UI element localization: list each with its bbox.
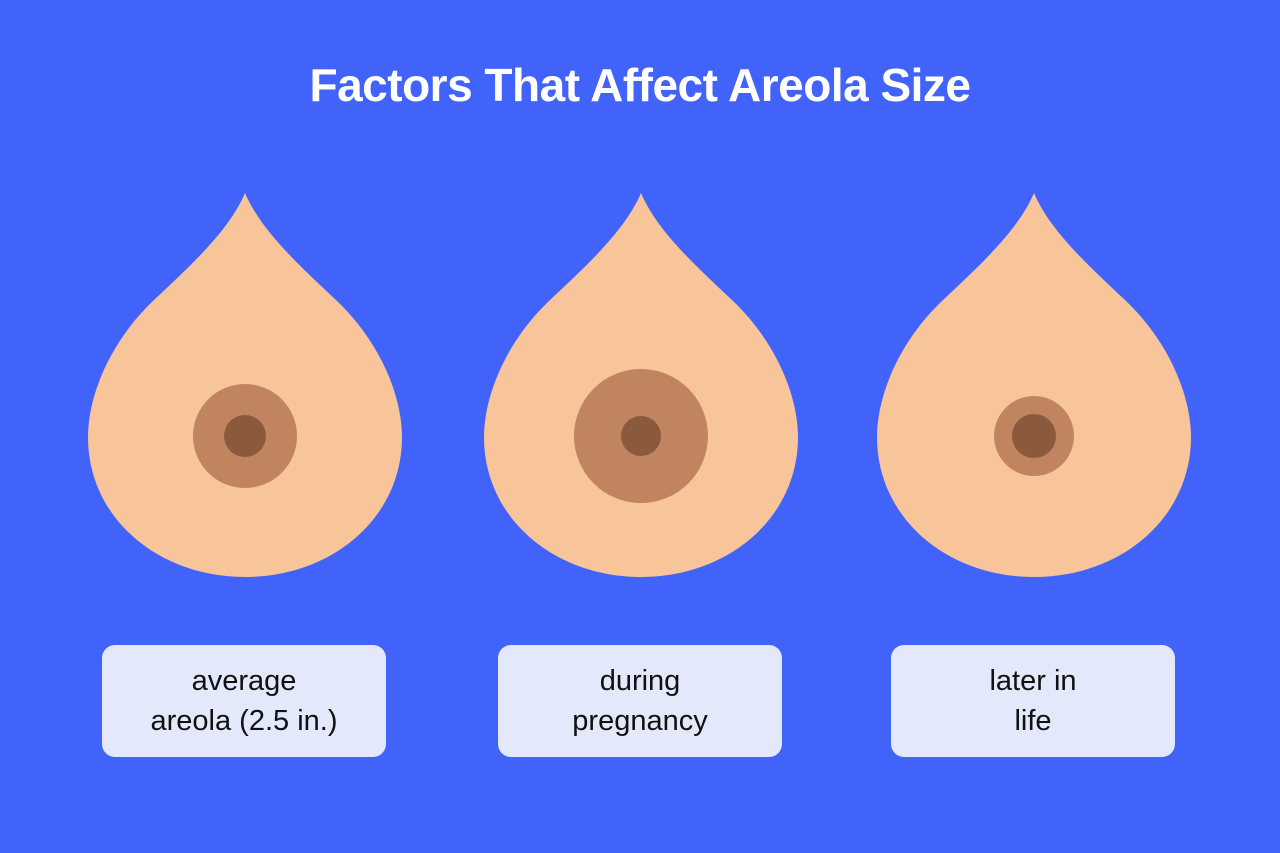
nipple-shape	[224, 415, 266, 457]
label-later-in-life: later in life	[891, 645, 1175, 757]
label-line-2: areola (2.5 in.)	[151, 701, 338, 741]
figure-average-areola	[75, 185, 415, 585]
figure-later-in-life	[864, 185, 1204, 585]
label-line-1: average	[192, 661, 297, 701]
breast-diagram-pregnancy	[471, 185, 811, 585]
figure-during-pregnancy	[471, 185, 811, 585]
infographic-canvas: Factors That Affect Areola Size average …	[0, 0, 1280, 853]
breast-diagram-average	[75, 185, 415, 585]
label-line-2: pregnancy	[572, 701, 707, 741]
label-during-pregnancy: during pregnancy	[498, 645, 782, 757]
label-line-2: life	[1014, 701, 1051, 741]
label-line-1: later in	[989, 661, 1076, 701]
label-line-1: during	[600, 661, 681, 701]
breast-diagram-later-life	[864, 185, 1204, 585]
label-average-areola: average areola (2.5 in.)	[102, 645, 386, 757]
breast-shape	[877, 193, 1191, 577]
nipple-shape	[1012, 414, 1056, 458]
nipple-shape	[621, 416, 661, 456]
page-title: Factors That Affect Areola Size	[0, 58, 1280, 113]
